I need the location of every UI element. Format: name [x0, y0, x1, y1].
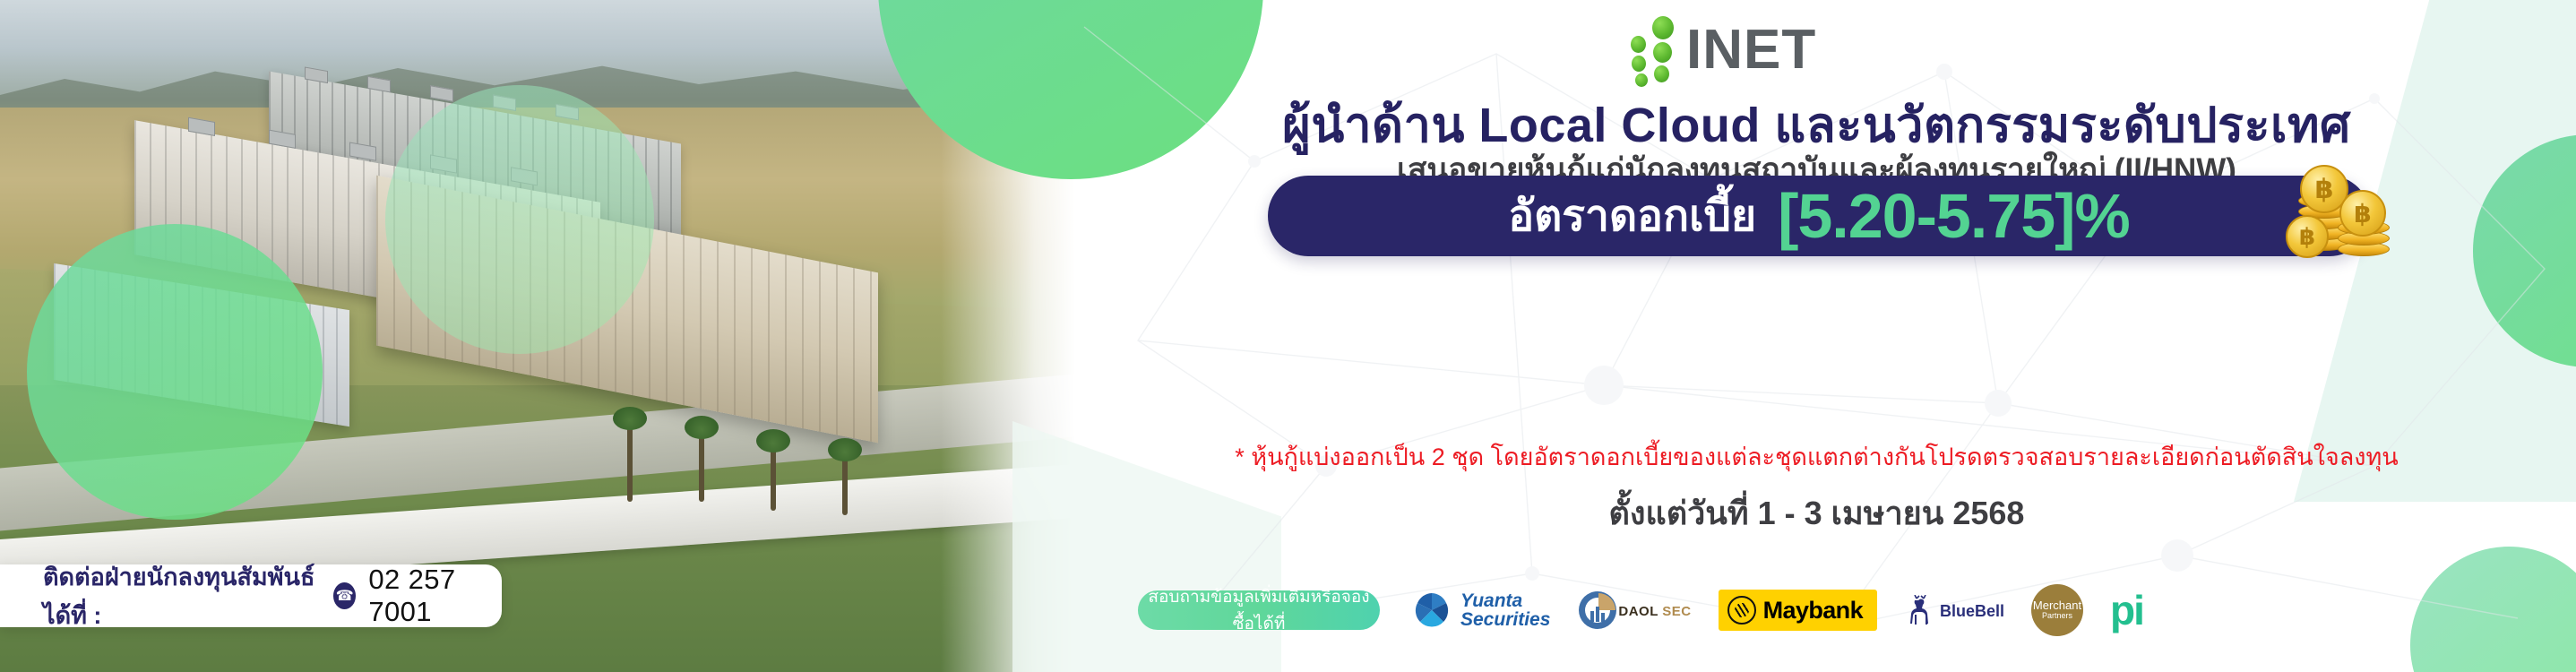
partner-logo-pi[interactable]: pi — [2110, 594, 2143, 627]
decor-blob-left — [27, 224, 323, 520]
daol-circle-icon — [1577, 590, 1618, 631]
phone-icon: ☎ — [333, 582, 356, 609]
photo-palm — [771, 444, 776, 511]
contact-phone-number[interactable]: 02 257 7001 — [368, 564, 502, 628]
investor-contact-bar: ติดต่อฝ่ายนักลงทุนสัมพันธ์ได้ที่ : ☎ 02 … — [0, 564, 502, 627]
yuanta-line1: Yuanta — [1460, 591, 1550, 610]
content-panel: INET ผู้นำด้าน Local Cloud และนวัตกรรมระ… — [1057, 0, 2576, 672]
offering-date: ตั้งแต่วันที่ 1 - 3 เมษายน 2568 — [1057, 487, 2576, 538]
interest-rate-badge: อัตราดอกเบี้ย [5.20-5.75]% ฿ ฿ ฿ — [1268, 176, 2370, 256]
banner-root: INET ผู้นำด้าน Local Cloud และนวัตกรรมระ… — [0, 0, 2576, 672]
gold-coins-icon: ฿ ฿ ฿ — [2275, 159, 2400, 271]
photo-palm — [699, 430, 704, 502]
partner-logo-bluebell[interactable]: BlueBell — [1904, 595, 2004, 625]
merchant-line1: Merchant — [2033, 599, 2081, 612]
partner-logo-maybank[interactable]: Maybank — [1719, 590, 1877, 631]
contact-label: ติดต่อฝ่ายนักลงทุนสัมพันธ์ได้ที่ : — [43, 557, 321, 634]
bluebell-deer-icon — [1904, 595, 1940, 625]
inet-logo: INET — [1631, 16, 1816, 75]
inet-logo-text: INET — [1686, 26, 1816, 75]
decor-blob-mid — [385, 85, 654, 354]
partner-logo-merchant-partners[interactable]: Merchant Partners — [2031, 584, 2083, 636]
yuanta-star-icon — [1412, 590, 1452, 630]
partner-logo-yuanta[interactable]: Yuanta Securities — [1412, 590, 1550, 630]
bluebell-label: BlueBell — [1940, 602, 2004, 621]
daol-line1: DAOL — [1618, 604, 1658, 619]
inquire-button[interactable]: สอบถามข้อมูลเพิ่มเติมหรือจองซื้อได้ที่ — [1138, 590, 1380, 630]
daol-line2: SEC — [1662, 604, 1691, 619]
merchant-line2: Partners — [2042, 612, 2072, 620]
cta-and-partners-row: สอบถามข้อมูลเพิ่มเติมหรือจองซื้อได้ที่ — [1057, 584, 2576, 636]
photo-palm — [842, 452, 848, 515]
partner-logos: Yuanta Securities — [1412, 584, 2143, 636]
yuanta-line2: Securities — [1460, 610, 1550, 629]
photo-palm — [627, 421, 633, 502]
inet-dots-logo-icon — [1631, 16, 1677, 75]
maybank-label: Maybank — [1763, 597, 1863, 625]
interest-rate-value: [5.20-5.75]% — [1778, 180, 2130, 252]
maybank-tiger-icon — [1727, 596, 1756, 625]
disclaimer-text: * หุ้นกู้แบ่งออกเป็น 2 ชุด โดยอัตราดอกเบ… — [1057, 437, 2576, 476]
partner-logo-daol[interactable]: DAOL SEC — [1577, 590, 1691, 631]
interest-rate-label: อัตราดอกเบี้ย — [1508, 182, 1756, 250]
